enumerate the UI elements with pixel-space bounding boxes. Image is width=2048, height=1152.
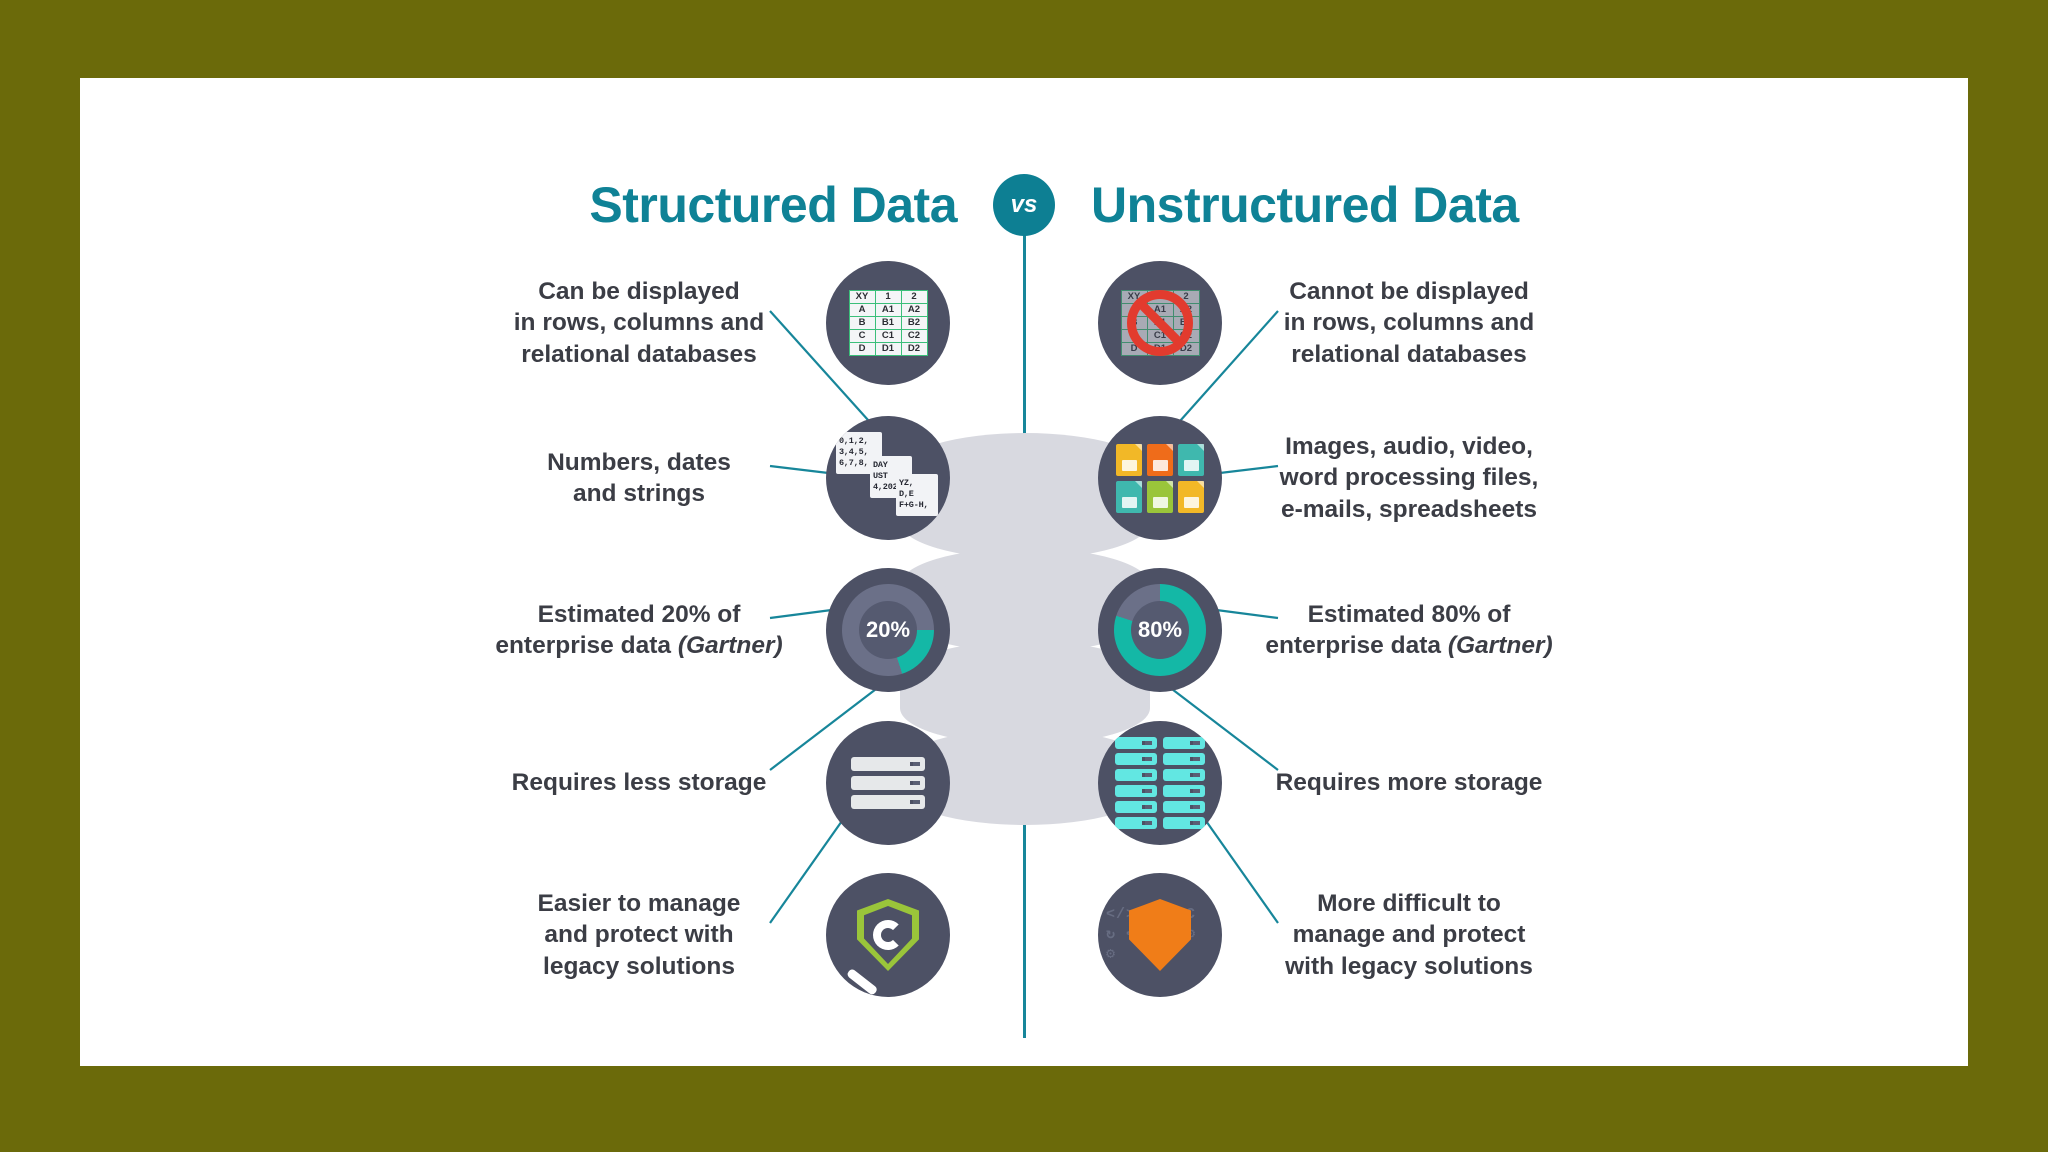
server-stack-large — [1115, 737, 1205, 829]
row-2-right: Images, audio, video, word processing fi… — [1024, 403, 1968, 553]
comparison-row-5: Easier to manage and protect with legacy… — [80, 860, 1968, 1010]
document-file-icon — [1147, 481, 1173, 513]
comparison-row-4: Requires less storage Requires more stor… — [80, 708, 1968, 858]
row-3-right-label: Estimated 80% of enterprise data (Gartne… — [1244, 599, 1574, 662]
server-stack-large-icon — [1098, 721, 1222, 845]
shield-wrench-icon — [826, 873, 950, 997]
row-4-right-label: Requires more storage — [1244, 767, 1574, 798]
shield-green — [857, 899, 919, 971]
donut-chart-80-icon: 80% — [1098, 568, 1222, 692]
comparison-row-1: Can be displayed in rows, columns and re… — [80, 248, 1968, 398]
donut-chart-20: 20% — [842, 584, 934, 676]
comparison-row-3: Estimated 20% of enterprise data (Gartne… — [80, 555, 1968, 705]
row-3-left-label: Estimated 20% of enterprise data (Gartne… — [474, 599, 804, 662]
row-5-right-label: More difficult to manage and protect wit… — [1244, 888, 1574, 982]
row-1-right: XY12 AA1A2 BB1B2 CC1C2 DD1D2 Cannot be d… — [1024, 248, 1968, 398]
image-file-icon — [1116, 444, 1142, 476]
page-title-structured: Structured Data — [537, 176, 957, 234]
email-file-icon — [1116, 481, 1142, 513]
row-3-left-source: (Gartner) — [678, 632, 783, 659]
shield-orange — [1129, 899, 1191, 971]
file-types-icon — [1098, 416, 1222, 540]
donut-chart-20-icon: 20% — [826, 568, 950, 692]
row-1-right-label: Cannot be displayed in rows, columns and… — [1244, 276, 1574, 370]
row-1-left: Can be displayed in rows, columns and re… — [80, 248, 1024, 398]
row-5-left-label: Easier to manage and protect with legacy… — [474, 888, 804, 982]
data-cards-icon: 0,1,2, 3,4,5, 6,7,8, DAY UST 4,2025 YZ, … — [826, 416, 950, 540]
row-5-left: Easier to manage and protect with legacy… — [80, 860, 1024, 1010]
spreadsheet-file-icon — [1178, 481, 1204, 513]
infographic-slide: Structured Data vs Unstructured Data Can… — [80, 78, 1968, 1066]
donut-center-label: 20% — [859, 601, 917, 659]
row-4-left: Requires less storage — [80, 708, 1024, 858]
video-file-icon — [1147, 444, 1173, 476]
table-grid-prohibited-icon: XY12 AA1A2 BB1B2 CC1C2 DD1D2 — [1098, 261, 1222, 385]
row-3-left: Estimated 20% of enterprise data (Gartne… — [80, 555, 1024, 705]
prohibited-icon — [1127, 290, 1193, 356]
shield-code-icon: </> { } C ↻ </> ↺ ⚙ ⚙ — [1098, 873, 1222, 997]
row-4-left-label: Requires less storage — [474, 767, 804, 798]
server-stack-small-icon — [826, 721, 950, 845]
row-3-right-source: (Gartner) — [1448, 632, 1553, 659]
donut-center-label: 80% — [1131, 601, 1189, 659]
row-5-right: </> { } C ↻ </> ↺ ⚙ ⚙ More difficult to … — [1024, 860, 1968, 1010]
header: Structured Data vs Unstructured Data — [80, 174, 1968, 236]
comparison-row-2: Numbers, dates and strings 0,1,2, 3,4,5,… — [80, 403, 1968, 553]
row-2-right-label: Images, audio, video, word processing fi… — [1244, 431, 1574, 525]
table-grid: XY12 AA1A2 BB1B2 CC1C2 DD1D2 — [849, 290, 928, 356]
audio-file-icon — [1178, 444, 1204, 476]
server-stack-small — [851, 757, 925, 809]
row-4-right: Requires more storage — [1024, 708, 1968, 858]
row-2-left: Numbers, dates and strings 0,1,2, 3,4,5,… — [80, 403, 1024, 553]
vs-badge: vs — [993, 174, 1055, 236]
page-title-unstructured: Unstructured Data — [1091, 176, 1511, 234]
row-2-left-label: Numbers, dates and strings — [474, 447, 804, 510]
strings-card: YZ, D,E F+G-H, — [896, 474, 938, 516]
row-1-left-label: Can be displayed in rows, columns and re… — [474, 276, 804, 370]
wrench-icon — [846, 968, 878, 996]
row-3-right: 80% Estimated 80% of enterprise data (Ga… — [1024, 555, 1968, 705]
table-grid-icon: XY12 AA1A2 BB1B2 CC1C2 DD1D2 — [826, 261, 950, 385]
donut-chart-80: 80% — [1114, 584, 1206, 676]
